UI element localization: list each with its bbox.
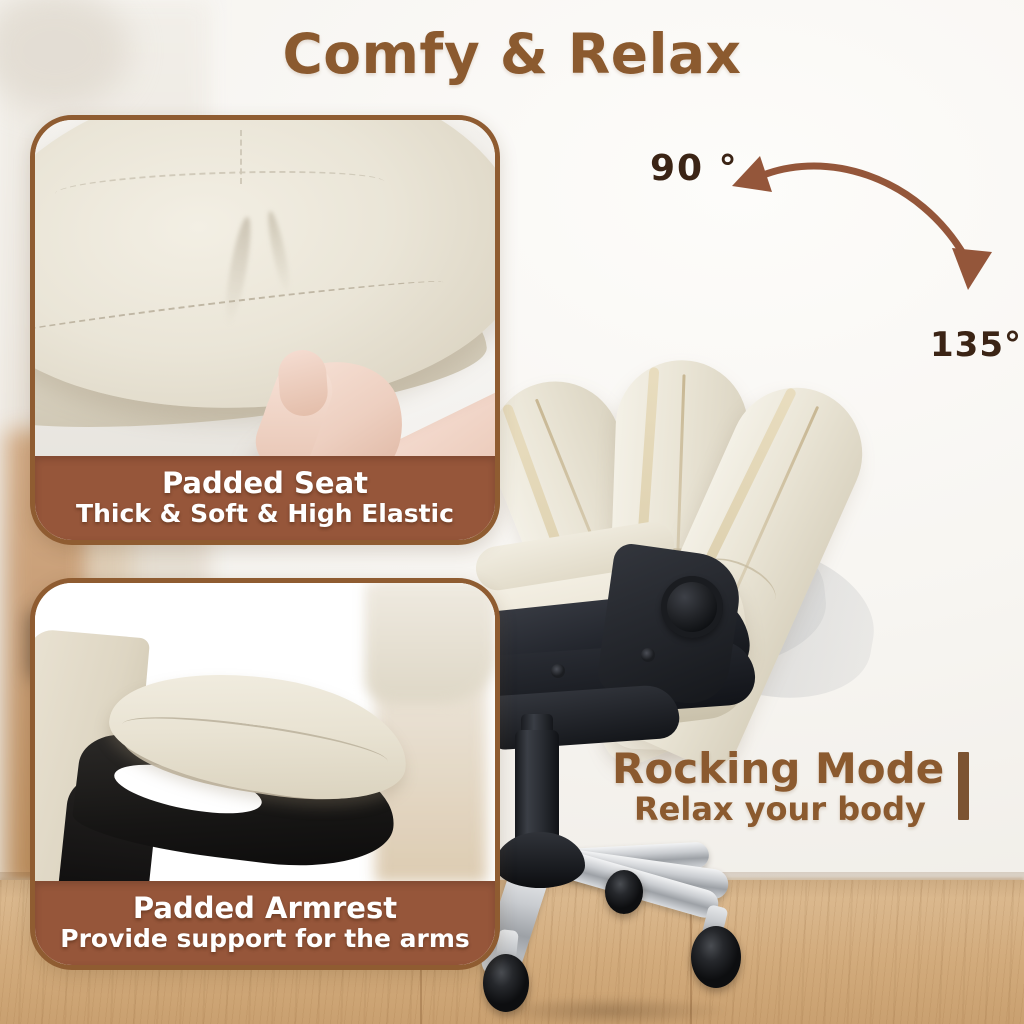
product-feature-image: Comfy & Relax <box>0 0 1024 1024</box>
page-title: Comfy & Relax <box>0 22 1024 86</box>
tilt-tension-knob <box>661 576 723 638</box>
padded-seat-photo <box>35 120 495 460</box>
recline-arc-arrow-icon <box>730 140 1020 340</box>
frame-bolt <box>551 664 565 678</box>
frame-bolt <box>641 648 655 662</box>
rocking-mode-accent-bar <box>958 752 969 820</box>
rocking-mode-text-block: Rocking Mode Relax your body <box>612 748 992 826</box>
padded-armrest-banner: Padded Armrest Provide support for the a… <box>35 881 495 965</box>
chair-caster <box>605 870 643 914</box>
rocking-mode-title: Rocking Mode <box>612 748 992 791</box>
gas-lift-cylinder <box>515 730 559 848</box>
padded-armrest-banner-subtitle: Provide support for the arms <box>60 925 470 953</box>
recline-angle-min-label: 90 ° <box>650 148 739 189</box>
feature-panel-padded-armrest: Padded Armrest Provide support for the a… <box>30 578 500 970</box>
rocking-mode-subtitle: Relax your body <box>612 793 992 827</box>
padded-seat-banner: Padded Seat Thick & Soft & High Elastic <box>35 456 495 540</box>
chair-caster <box>691 926 741 988</box>
photo-background-chair-blur <box>365 583 495 703</box>
chair-base-hub <box>495 832 585 888</box>
feature-panel-padded-seat: Padded Seat Thick & Soft & High Elastic <box>30 115 500 545</box>
padded-armrest-banner-title: Padded Armrest <box>133 893 397 923</box>
seat-vertical-stitching <box>240 130 256 184</box>
padded-seat-banner-title: Padded Seat <box>162 468 368 498</box>
padded-armrest-photo <box>35 583 495 883</box>
padded-seat-banner-subtitle: Thick & Soft & High Elastic <box>76 500 454 528</box>
hand-finger <box>277 348 329 417</box>
